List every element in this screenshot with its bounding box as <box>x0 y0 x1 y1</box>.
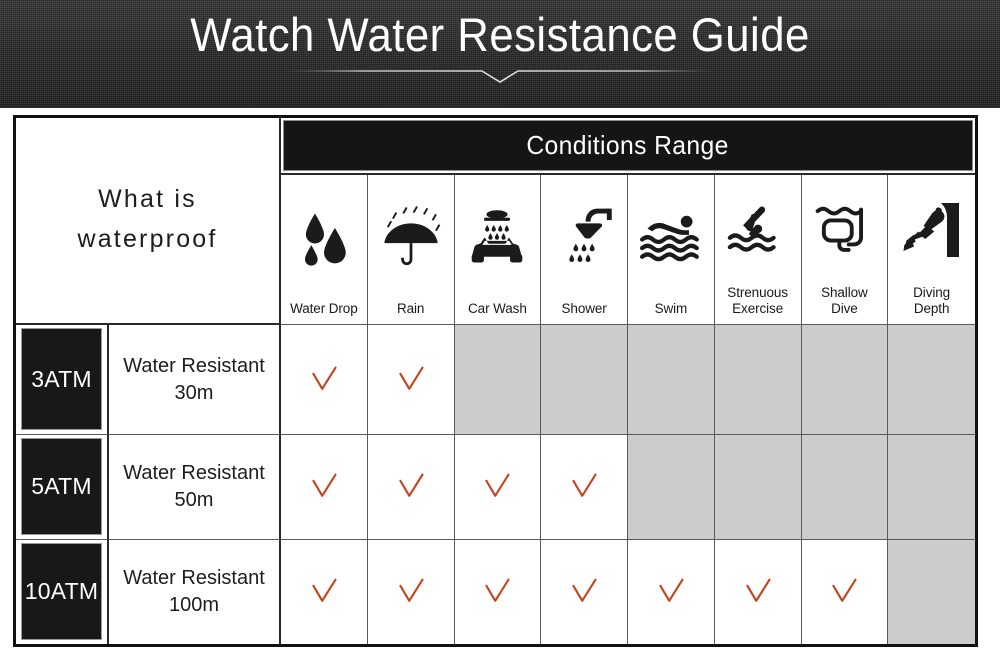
column-label: Strenuous Exercise <box>725 285 790 318</box>
conditions-range-label: Conditions Range <box>527 130 729 161</box>
column-header-car-wash: Car Wash <box>455 175 542 325</box>
check-mark-icon <box>309 472 339 502</box>
rating-badge: 10ATM <box>21 543 102 640</box>
row-description-cell: Water Resistant 30m <box>109 325 281 435</box>
table-cell <box>281 435 368 540</box>
column-header-shallow-dive: Shallow Dive <box>802 175 889 325</box>
check-mark-icon <box>569 472 599 502</box>
column-label-line2: Dive <box>831 301 858 316</box>
column-header-swim: Swim <box>628 175 715 325</box>
description-line1: Water Resistant <box>123 567 265 589</box>
column-label: Rain <box>395 301 426 319</box>
row-description-cell: Water Resistant 50m <box>109 435 281 540</box>
table-cell <box>541 540 628 644</box>
table-cell-disabled <box>628 435 715 540</box>
check-mark-icon <box>309 577 339 607</box>
column-label: Diving Depth <box>911 285 952 318</box>
table-cell-disabled <box>802 325 889 435</box>
table-cell <box>281 325 368 435</box>
umbrella-rain-icon <box>368 175 454 301</box>
check-mark-icon <box>656 577 686 607</box>
row-rating-cell: 10ATM <box>16 540 109 644</box>
column-header-shower: Shower <box>541 175 628 325</box>
corner-label-line1: What is <box>98 179 197 219</box>
column-label: Shallow Dive <box>819 285 870 318</box>
column-label: Shower <box>560 301 609 319</box>
table-corner-header: What is waterproof <box>16 118 281 325</box>
check-mark-icon <box>829 577 859 607</box>
table-cell-disabled <box>455 325 542 435</box>
column-header-diving-depth: Diving Depth <box>888 175 975 325</box>
row-description: Water Resistant 30m <box>115 353 273 407</box>
column-header-strenuous-exercise: Strenuous Exercise <box>715 175 802 325</box>
shower-head-icon <box>541 175 627 301</box>
corner-label-line2: waterproof <box>77 219 217 259</box>
table-cell <box>802 540 889 644</box>
table-cell-disabled <box>628 325 715 435</box>
table-cell-disabled <box>715 325 802 435</box>
table-cell <box>628 540 715 644</box>
description-line2: 50m <box>175 489 214 511</box>
column-label: Car Wash <box>466 301 529 319</box>
check-mark-icon <box>396 365 426 395</box>
column-label-line1: Shallow <box>821 285 868 300</box>
column-label-line2: Exercise <box>732 301 783 316</box>
table-cell-disabled <box>888 325 975 435</box>
description-line2: 30m <box>175 382 214 404</box>
table-cell <box>541 435 628 540</box>
column-label-line1: Diving <box>913 285 950 300</box>
table-cell-disabled <box>715 435 802 540</box>
table-cell <box>368 325 455 435</box>
swimmer-icon <box>628 175 714 301</box>
conditions-range-header: Conditions Range <box>281 118 975 175</box>
check-mark-icon <box>482 577 512 607</box>
page-banner: Watch Water Resistance Guide <box>0 0 1000 108</box>
water-resistance-table: What is waterproof Conditions Range Wate… <box>13 115 978 647</box>
table-cell <box>368 435 455 540</box>
row-description-cell: Water Resistant 100m <box>109 540 281 644</box>
diver-jump-icon <box>715 175 801 285</box>
row-description: Water Resistant 50m <box>115 460 273 514</box>
v-notch-divider-icon <box>282 64 718 86</box>
row-description: Water Resistant 100m <box>115 565 273 619</box>
check-mark-icon <box>396 577 426 607</box>
column-label-line1: Strenuous <box>727 285 788 300</box>
column-header-water-drop: Water Drop <box>281 175 368 325</box>
table-cell <box>715 540 802 644</box>
table-cell-disabled <box>802 435 889 540</box>
row-rating-cell: 3ATM <box>16 325 109 435</box>
check-mark-icon <box>482 472 512 502</box>
table-cell <box>281 540 368 644</box>
table-cell <box>455 435 542 540</box>
car-wash-icon <box>455 175 541 301</box>
column-label-line2: Depth <box>914 301 950 316</box>
description-line1: Water Resistant <box>123 355 265 377</box>
scuba-diver-icon <box>888 175 975 285</box>
rating-badge: 5ATM <box>21 438 102 535</box>
column-label: Swim <box>653 301 690 319</box>
table-cell <box>368 540 455 644</box>
table-cell-disabled <box>541 325 628 435</box>
row-rating-cell: 5ATM <box>16 435 109 540</box>
description-line1: Water Resistant <box>123 462 265 484</box>
water-drop-icon <box>281 175 367 301</box>
rating-badge: 3ATM <box>21 328 102 430</box>
check-mark-icon <box>569 577 599 607</box>
page-title: Watch Water Resistance Guide <box>35 6 965 64</box>
table-cell-disabled <box>888 435 975 540</box>
description-line2: 100m <box>169 594 219 616</box>
table-cell-disabled <box>888 540 975 644</box>
snorkel-mask-icon <box>802 175 888 285</box>
table-grid: What is waterproof Conditions Range Wate… <box>16 118 975 644</box>
table-cell <box>455 540 542 644</box>
check-mark-icon <box>309 365 339 395</box>
check-mark-icon <box>396 472 426 502</box>
check-mark-icon <box>743 577 773 607</box>
column-header-rain: Rain <box>368 175 455 325</box>
column-label: Water Drop <box>288 301 360 319</box>
